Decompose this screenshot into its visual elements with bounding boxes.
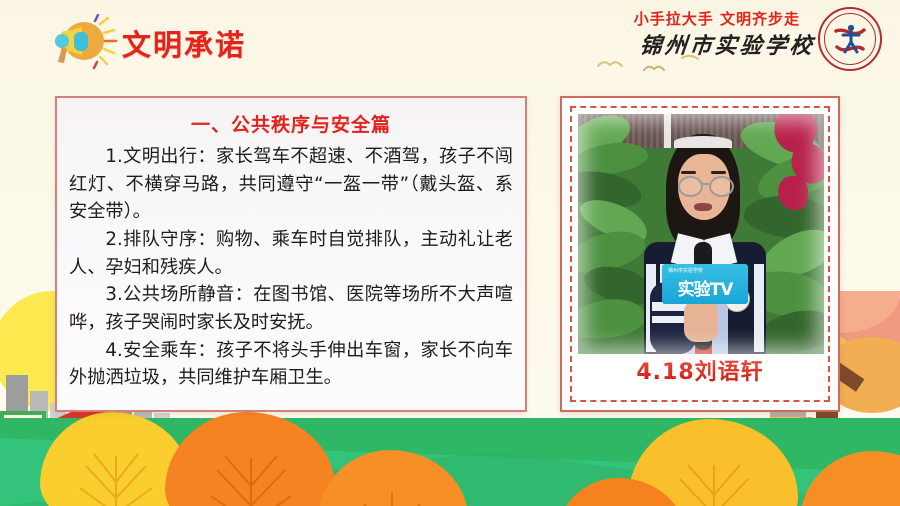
tree-veins-icon xyxy=(318,450,468,506)
paragraph-2: 2.排队守序：购物、乘车时自觉排队，主动礼让老人、孕妇和残疾人。 xyxy=(69,226,513,281)
ginkgo-tree-orange-far-right xyxy=(800,451,900,506)
paragraph-3: 3.公共场所静音：在图书馆、医院等场所不大声喧哗，孩子哭闹时家长及时安抚。 xyxy=(69,281,513,336)
logo-figure-icon xyxy=(830,19,870,59)
ginkgo-tree-orange xyxy=(165,412,335,506)
text-content-card: 一、公共秩序与安全篇 1.文明出行：家长驾车不超速、不酒驾，孩子不闯红灯、不横穿… xyxy=(55,96,527,412)
mic-flag-label: 实验TV xyxy=(662,275,748,300)
mic-flag-school-name: 锦州市实验学校 xyxy=(668,267,703,274)
school-crest-logo xyxy=(818,7,882,71)
slide-canvas: 文明承诺 小手拉大手 文明齐步走 锦州市实验学校 一、公共秩序与安全篇 1.文明… xyxy=(0,0,900,506)
ginkgo-tree-orange-right xyxy=(556,478,686,506)
student-hand xyxy=(684,300,718,342)
tree-veins-icon xyxy=(556,478,686,506)
ginkgo-tree-orange-small xyxy=(318,450,468,506)
megaphone-icon xyxy=(48,14,120,70)
student-hairband xyxy=(674,136,732,148)
paragraph-1: 1.文明出行：家长驾车不超速、不酒驾，孩子不闯红灯、不横穿马路，共同遵守“一盔一… xyxy=(69,143,513,226)
tree-veins-icon xyxy=(165,412,335,506)
bird-decoration-icon xyxy=(590,52,720,76)
body-text: 1.文明出行：家长驾车不超速、不酒驾，孩子不闯红灯、不横穿马路，共同遵守“一盔一… xyxy=(69,143,513,392)
photo-caption: 4.18刘语轩 xyxy=(572,354,828,386)
paragraph-4: 4.安全乘车：孩子不将头手伸出车窗，家长不向车外抛洒垃圾，共同维护车厢卫生。 xyxy=(69,337,513,392)
section-title: 一、公共秩序与安全篇 xyxy=(57,110,525,137)
page-title: 文明承诺 xyxy=(122,22,246,64)
microphone-flag: 锦州市实验学校 实验TV xyxy=(662,264,748,304)
photo-card: 锦州市实验学校 实验TV 4.18刘语轩 xyxy=(560,96,840,412)
student-photo: 锦州市实验学校 实验TV xyxy=(578,114,824,354)
photo-dashed-frame: 锦州市实验学校 实验TV 4.18刘语轩 xyxy=(570,106,830,402)
header-slogan: 小手拉大手 文明齐步走 xyxy=(634,8,800,29)
